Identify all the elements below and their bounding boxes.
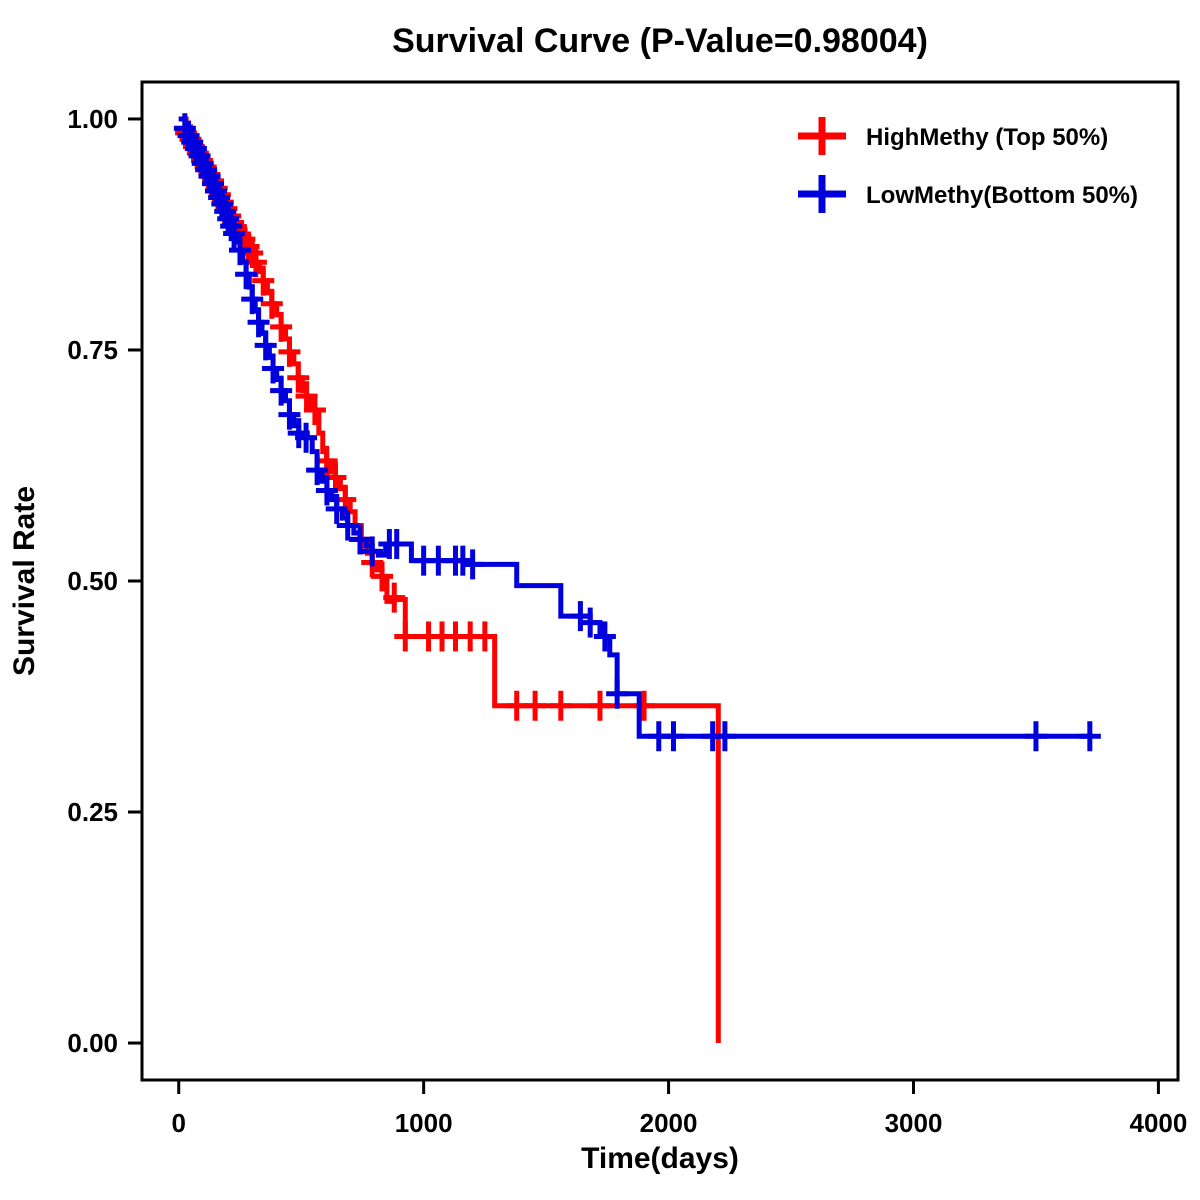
x-tick-label: 0 [172, 1108, 186, 1138]
y-tick-label: 0.75 [67, 335, 118, 365]
y-tick-label: 0.00 [67, 1028, 118, 1058]
x-tick-label: 2000 [640, 1108, 698, 1138]
legend-label: HighMethy (Top 50%) [866, 124, 1108, 151]
y-tick-label: 1.00 [67, 104, 118, 134]
y-tick-label: 0.50 [67, 566, 118, 596]
x-tick-label: 3000 [885, 1108, 943, 1138]
legend-label: LowMethy(Bottom 50%) [866, 182, 1138, 209]
figure-background [0, 0, 1200, 1200]
survival-curve-figure: Survival Curve (P-Value=0.98004) 0100020… [0, 0, 1200, 1200]
chart-title: Survival Curve (P-Value=0.98004) [392, 22, 928, 60]
x-axis-title: Time(days) [581, 1142, 739, 1175]
x-tick-label: 1000 [395, 1108, 453, 1138]
survival-plot-svg: Survival Curve (P-Value=0.98004) 0100020… [0, 0, 1200, 1200]
y-axis-title: Survival Rate [8, 486, 41, 676]
x-tick-label: 4000 [1129, 1108, 1187, 1138]
y-tick-label: 0.25 [67, 797, 118, 827]
